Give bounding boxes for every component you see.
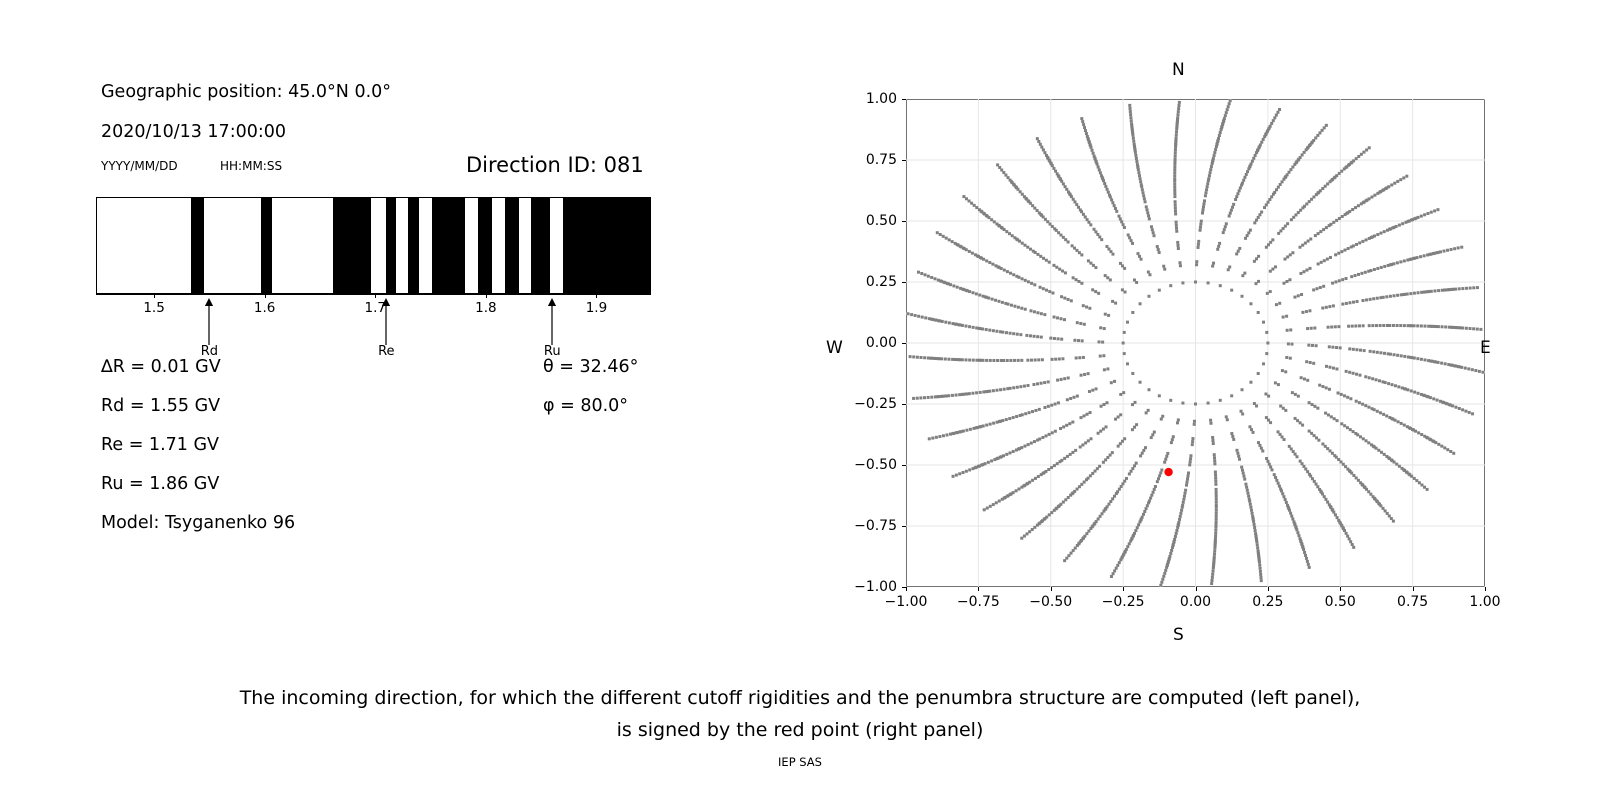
caption-line-1: The incoming direction, for which the di… — [0, 682, 1600, 714]
penumbra-band-forbidden — [531, 198, 550, 293]
date-format-hint: YYYY/MM/DD — [101, 160, 178, 172]
y-tick-label: 0.00 — [866, 335, 897, 351]
x-tick-label: −0.75 — [957, 594, 1000, 610]
x-tick-label: −0.50 — [1029, 594, 1072, 610]
y-tick-label: 0.50 — [866, 213, 897, 229]
y-tick-label: 0.75 — [866, 152, 897, 168]
rigidity-tick — [375, 294, 376, 298]
penumbra-bar — [96, 197, 651, 294]
x-tick-label: 0.50 — [1325, 594, 1356, 610]
x-tick-label: −0.25 — [1102, 594, 1145, 610]
selected-direction-point — [1164, 468, 1172, 476]
rigidity-tick-label: 1.9 — [586, 300, 607, 316]
time-format-hint: HH:MM:SS — [220, 160, 282, 172]
compass-label-south: S — [1173, 625, 1184, 645]
y-tick — [902, 526, 906, 527]
penumbra-band-forbidden — [505, 198, 519, 293]
y-tick-label: −0.50 — [854, 457, 897, 473]
y-tick-label: 1.00 — [866, 91, 897, 107]
rigidity-tick-label: 1.5 — [143, 300, 164, 316]
x-tick-label: 1.00 — [1469, 594, 1500, 610]
x-tick-label: −1.00 — [885, 594, 928, 610]
cutoff-arrow-label-re: Re — [378, 344, 394, 359]
x-tick — [1051, 587, 1052, 591]
penumbra-band-forbidden — [386, 198, 395, 293]
compass-label-east: E — [1480, 338, 1491, 358]
y-tick-label: −1.00 — [854, 579, 897, 595]
y-tick — [902, 465, 906, 466]
penumbra-band-forbidden — [478, 198, 492, 293]
geographic-position: Geographic position: 45.0°N 0.0° — [101, 84, 391, 102]
compass-label-west: W — [826, 338, 843, 358]
rigidity-tick-label: 1.8 — [475, 300, 496, 316]
x-tick-label: 0.25 — [1252, 594, 1283, 610]
rigidity-tick-label: 1.6 — [254, 300, 275, 316]
y-tick — [902, 99, 906, 100]
y-tick — [902, 221, 906, 222]
axis-line — [96, 294, 651, 295]
penumbra-band-forbidden — [408, 198, 420, 293]
rigidity-tick — [486, 294, 487, 298]
param-ru: Ru = 1.86 GV — [101, 474, 219, 494]
param-theta: θ = 32.46° — [543, 357, 638, 377]
x-tick — [978, 587, 979, 591]
y-tick-label: −0.75 — [854, 518, 897, 534]
penumbra-band-forbidden — [333, 198, 372, 293]
param-model: Model: Tsyganenko 96 — [101, 513, 295, 533]
x-tick — [1485, 587, 1486, 591]
rigidity-tick — [265, 294, 266, 298]
x-tick — [1413, 587, 1414, 591]
cutoff-arrow-ru — [546, 298, 559, 346]
penumbra-band-forbidden — [261, 198, 273, 293]
y-tick — [902, 343, 906, 344]
rigidity-tick — [596, 294, 597, 298]
scatter-points — [906, 99, 1485, 587]
compass-label-north: N — [1172, 60, 1185, 80]
param-delta-r: ∆R = 0.01 GV — [101, 357, 221, 377]
x-tick — [906, 587, 907, 591]
x-tick — [1340, 587, 1341, 591]
param-phi: φ = 80.0° — [543, 396, 628, 416]
penumbra-band-forbidden — [432, 198, 465, 293]
rigidity-tick — [154, 294, 155, 298]
penumbra-band-forbidden — [191, 198, 204, 293]
y-tick — [902, 160, 906, 161]
y-tick-label: 0.25 — [866, 274, 897, 290]
x-tick — [1123, 587, 1124, 591]
rigidity-axis: 1.51.61.71.81.9RdReRu — [96, 294, 651, 354]
figure-caption: The incoming direction, for which the di… — [0, 682, 1600, 746]
cutoff-arrow-rd — [203, 298, 216, 346]
sky-map-panel: −1.00−0.75−0.50−0.250.000.250.500.751.00… — [906, 99, 1485, 587]
param-re: Re = 1.71 GV — [101, 435, 219, 455]
param-rd: Rd = 1.55 GV — [101, 396, 220, 416]
x-tick — [1196, 587, 1197, 591]
caption-line-2: is signed by the red point (right panel) — [0, 714, 1600, 746]
footer-credit: IEP SAS — [0, 755, 1600, 769]
cutoff-arrow-re — [380, 298, 393, 346]
x-tick — [1268, 587, 1269, 591]
penumbra-band-forbidden — [563, 198, 650, 293]
x-tick-label: 0.75 — [1397, 594, 1428, 610]
y-tick-label: −0.25 — [854, 396, 897, 412]
y-tick — [902, 404, 906, 405]
direction-id: Direction ID: 081 — [466, 155, 644, 176]
datetime: 2020/10/13 17:00:00 — [101, 124, 286, 142]
penumbra-panel: Geographic position: 45.0°N 0.0° 2020/10… — [0, 0, 760, 660]
x-tick-label: 0.00 — [1180, 594, 1211, 610]
y-tick — [902, 282, 906, 283]
